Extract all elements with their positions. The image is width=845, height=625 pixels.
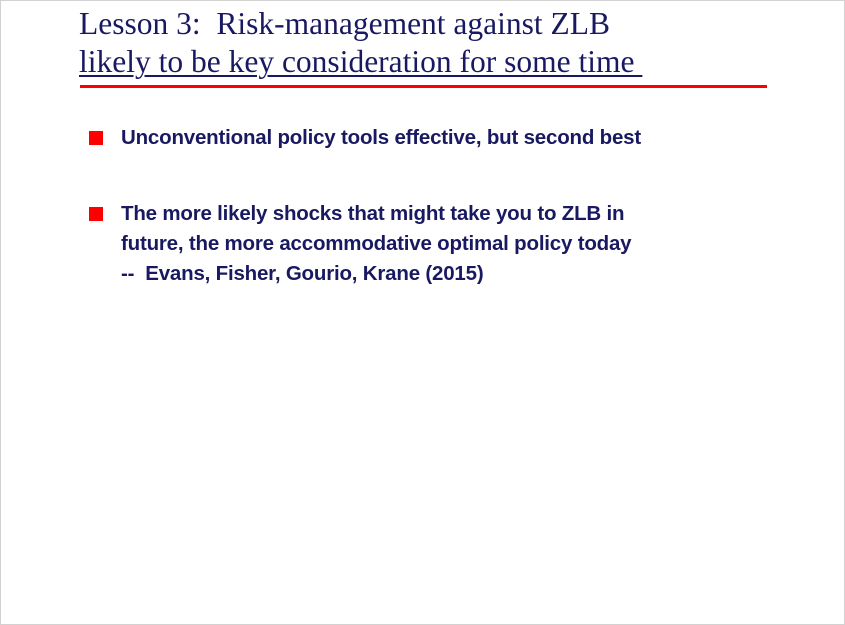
bullet-citation-line: -- Evans, Fisher, Gourio, Krane (2015) [121,259,789,289]
list-item: The more likely shocks that might take y… [89,199,789,289]
title-red-rule [80,85,767,88]
bullet-line: Unconventional policy tools effective, b… [121,123,789,153]
slide-title: Lesson 3: Risk-management against ZLB li… [79,5,779,81]
square-bullet-icon [89,131,103,145]
slide-body: Unconventional policy tools effective, b… [89,123,789,289]
title-line-2: likely to be key consideration for some … [79,43,779,81]
list-item: Unconventional policy tools effective, b… [89,123,789,153]
slide-canvas: Lesson 3: Risk-management against ZLB li… [0,0,845,625]
bullet-line: The more likely shocks that might take y… [121,199,789,229]
square-bullet-icon [89,207,103,221]
bullet-line: future, the more accommodative optimal p… [121,229,789,259]
title-line-1: Lesson 3: Risk-management against ZLB [79,5,779,43]
